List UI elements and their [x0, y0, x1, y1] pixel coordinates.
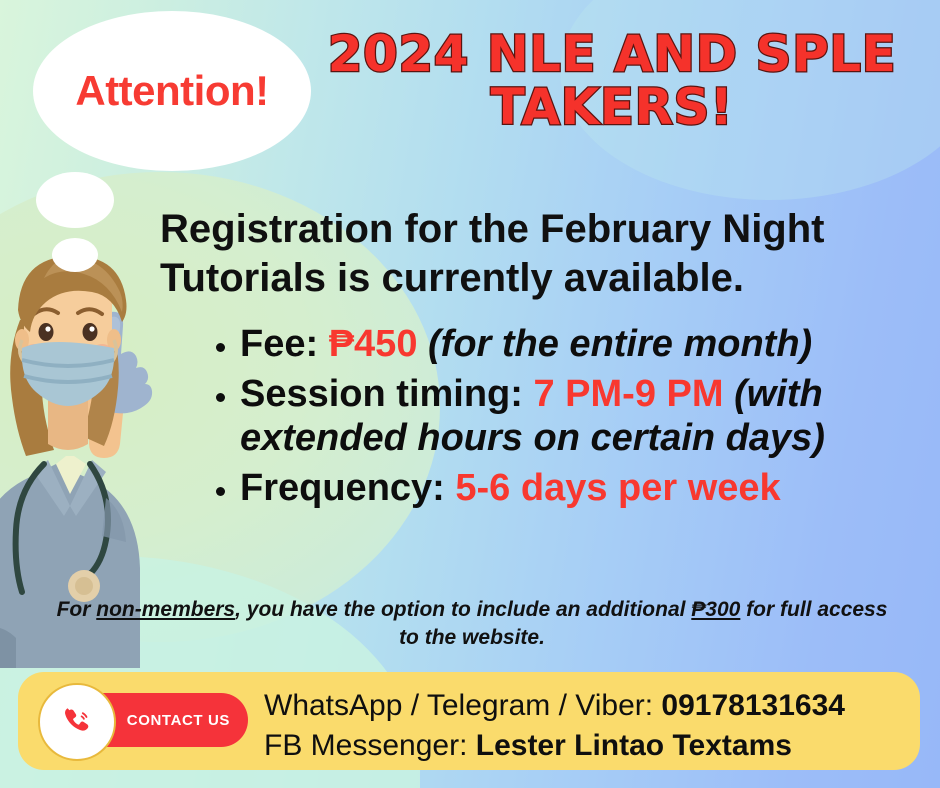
contact-bar: CONTACT US WhatsApp / Telegram / Viber: … — [18, 672, 920, 770]
attention-speech-bubble: Attention! — [33, 11, 311, 171]
contact-details: WhatsApp / Telegram / Viber: 09178131634… — [264, 686, 914, 766]
note-part-1: For — [57, 598, 97, 621]
list-item: Frequency: 5-6 days per week — [240, 466, 940, 510]
contact-line-messaging: WhatsApp / Telegram / Viber: 09178131634 — [264, 686, 914, 726]
thought-bubble-small — [52, 238, 98, 272]
bullet-highlight: 7 PM-9 PM — [533, 373, 723, 415]
bullet-label: Frequency: — [240, 467, 455, 509]
list-item: Fee: ₱450 (for the entire month) — [240, 322, 940, 366]
note-underline-amount: ₱300 — [691, 598, 740, 621]
bullet-suffix: (for the entire month) — [417, 323, 812, 365]
list-item: Session timing: 7 PM-9 PM (with extended… — [240, 372, 940, 460]
messaging-label: WhatsApp / Telegram / Viber: — [264, 689, 661, 722]
messenger-name: Lester Lintao Textams — [476, 729, 792, 762]
bullet-highlight: ₱450 — [329, 323, 418, 365]
attention-text: Attention! — [75, 67, 268, 115]
messenger-label: FB Messenger: — [264, 729, 476, 762]
note-part-2: , you have the option to include an addi… — [235, 598, 691, 621]
details-bullet-list: Fee: ₱450 (for the entire month) Session… — [196, 322, 940, 516]
messaging-number: 09178131634 — [661, 689, 845, 722]
note-underline-nonmembers: non-members — [96, 598, 235, 621]
poster-canvas: Attention! 2024 NLE AND SPLE TAKERS! Reg… — [0, 0, 940, 788]
headline-line-2: TAKERS! — [312, 81, 912, 134]
bullet-label: Fee: — [240, 323, 329, 365]
phone-handset-icon — [60, 705, 94, 739]
lead-paragraph: Registration for the February Night Tuto… — [160, 205, 920, 303]
bullet-highlight: 5-6 days per week — [455, 467, 780, 509]
non-member-note: For non-members, you have the option to … — [44, 596, 900, 652]
contact-us-label: CONTACT US — [127, 712, 230, 729]
thought-bubble-large — [36, 172, 114, 228]
contact-line-messenger: FB Messenger: Lester Lintao Textams — [264, 726, 914, 766]
headline-line-1: 2024 NLE AND SPLE — [312, 28, 912, 81]
phone-call-icon[interactable] — [38, 683, 116, 761]
poster-headline: 2024 NLE AND SPLE TAKERS! — [312, 28, 912, 134]
bullet-label: Session timing: — [240, 373, 533, 415]
